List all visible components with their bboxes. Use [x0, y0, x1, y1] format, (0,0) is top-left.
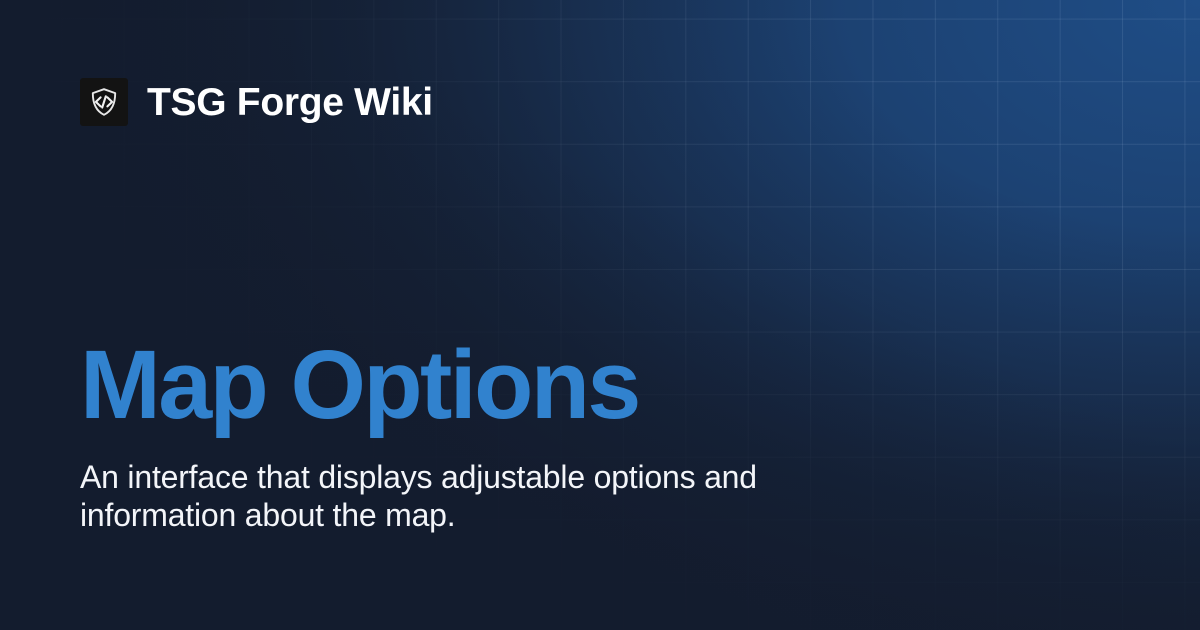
page-title: Map Options: [80, 336, 1120, 433]
brand-header: TSG Forge Wiki: [80, 78, 433, 126]
shield-code-icon: [88, 86, 120, 118]
card-content: TSG Forge Wiki Map Options An interface …: [0, 0, 1200, 630]
page-subtitle: An interface that displays adjustable op…: [80, 458, 870, 535]
brand-logo-tile: [80, 78, 128, 126]
brand-name: TSG Forge Wiki: [147, 83, 433, 122]
hero-block: Map Options An interface that displays a…: [80, 336, 1120, 535]
og-preview-card: TSG Forge Wiki Map Options An interface …: [0, 0, 1200, 630]
